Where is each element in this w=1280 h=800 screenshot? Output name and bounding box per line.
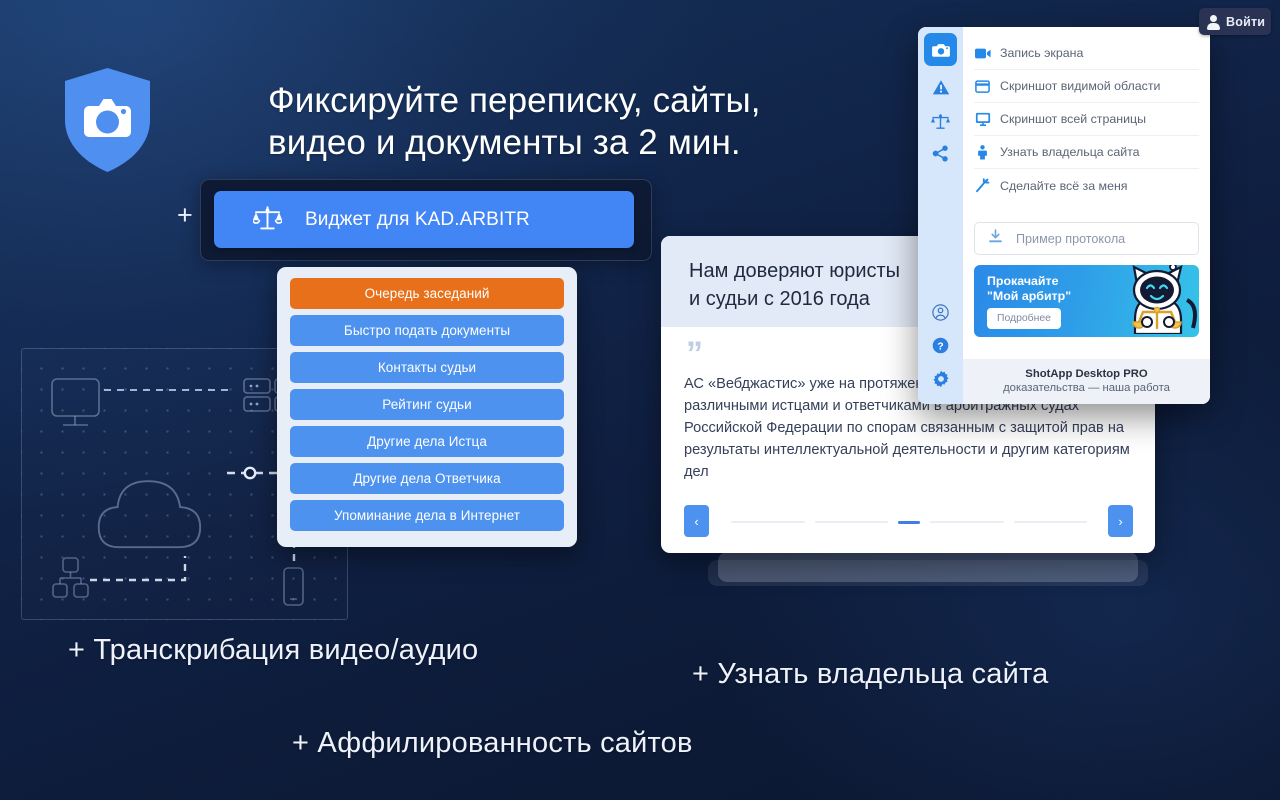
ext-menu-label-4: Сделайте всё за меня <box>1000 179 1128 193</box>
rail-item-help[interactable]: ? <box>918 329 963 362</box>
magic-wand-icon <box>974 178 991 193</box>
promo-title-line-2: "Мой арбитр" <box>987 289 1071 304</box>
login-button[interactable]: Войти <box>1199 8 1271 35</box>
footer-product-name: ShotApp Desktop PRO <box>963 368 1210 380</box>
menu-item-1[interactable]: Быстро подать документы <box>290 315 564 346</box>
headline-line-2: видео и документы за 2 мин. <box>268 122 898 164</box>
feature-line-2: + Узнать владельца сайта <box>692 658 1048 691</box>
footer-tagline: доказательства — наша работа <box>963 382 1210 394</box>
widget-button-label: Виджет для KAD.ARBITR <box>305 209 530 231</box>
svg-text:?: ? <box>937 340 943 352</box>
warning-triangle-icon <box>932 79 950 96</box>
ext-menu-item-do-everything[interactable]: Сделайте всё за меня <box>974 169 1199 202</box>
ext-menu-item-visible-area[interactable]: Скриншот видимой области <box>974 70 1199 103</box>
carousel-prev-button[interactable]: ‹ <box>684 505 709 537</box>
protocol-example-button[interactable]: Пример протокола <box>974 222 1199 255</box>
carousel-dot-1[interactable] <box>815 521 889 523</box>
rail-top-group <box>918 71 963 170</box>
promo-banner-my-arbitr[interactable]: Прокачайте "Мой арбитр" Подробнее <box>974 265 1199 337</box>
extension-footer: ShotApp Desktop PRO доказательства — наш… <box>963 359 1210 404</box>
download-icon <box>988 229 1003 248</box>
carousel-next-button[interactable]: › <box>1108 505 1133 537</box>
rail-item-account[interactable] <box>918 296 963 329</box>
rail-item-settings[interactable] <box>918 362 963 395</box>
rail-item-camera[interactable] <box>924 33 957 66</box>
monitor-icon <box>974 112 991 126</box>
scales-icon <box>931 112 950 130</box>
kad-widget-menu-card: Очередь заседаний Быстро подать документ… <box>277 267 577 547</box>
ext-menu-label-3: Узнать владельца сайта <box>1000 145 1140 159</box>
headline-line-1: Фиксируйте переписку, сайты, <box>268 80 898 122</box>
carousel-dot-3[interactable] <box>930 521 1004 523</box>
rail-bottom-group: ? <box>918 296 963 395</box>
feature-line-1: + Транскрибация видео/аудио <box>68 634 478 667</box>
menu-item-4[interactable]: Другие дела Истца <box>290 426 564 457</box>
promo-title-line-1: Прокачайте <box>987 274 1071 289</box>
extension-main: Запись экрана Скриншот видимой области <box>963 27 1210 404</box>
camera-icon <box>932 42 950 58</box>
extension-sidebar-rail: ? <box>918 27 963 404</box>
carousel-dot-4[interactable] <box>1014 521 1088 523</box>
menu-item-3[interactable]: Рейтинг судьи <box>290 389 564 420</box>
browser-window-icon <box>974 80 991 93</box>
menu-item-5[interactable]: Другие дела Ответчика <box>290 463 564 494</box>
help-circle-icon: ? <box>932 337 949 354</box>
widget-panel: Виджет для KAD.ARBITR <box>200 179 652 261</box>
shield-camera-icon <box>61 66 154 174</box>
protocol-button-label: Пример протокола <box>1016 232 1125 246</box>
promo-banner: Фиксируйте переписку, сайты, видео и док… <box>0 0 1280 800</box>
ext-menu-label-1: Скриншот видимой области <box>1000 79 1160 93</box>
ext-menu-item-full-page[interactable]: Скриншот всей страницы <box>974 103 1199 136</box>
ext-menu-label-0: Запись экрана <box>1000 46 1083 60</box>
ext-menu-item-screen-record[interactable]: Запись экрана <box>974 37 1199 70</box>
rail-item-share[interactable] <box>918 137 963 170</box>
person-standing-icon <box>974 145 991 160</box>
widget-plus-sign: + <box>177 202 193 229</box>
menu-item-2[interactable]: Контакты судьи <box>290 352 564 383</box>
promo-details-button[interactable]: Подробнее <box>987 308 1061 329</box>
menu-item-0[interactable]: Очередь заседаний <box>290 278 564 309</box>
promo-title: Прокачайте "Мой арбитр" <box>987 274 1071 304</box>
feature-line-3: + Аффилированность сайтов <box>292 727 693 760</box>
menu-item-6[interactable]: Упоминание дела в Интернет <box>290 500 564 531</box>
rail-item-scales[interactable] <box>918 104 963 137</box>
quote-mark-icon: ” <box>686 337 704 371</box>
testimonial-stack-mid <box>718 552 1138 582</box>
shield-camera-logo <box>61 66 154 174</box>
video-camera-icon <box>974 48 991 59</box>
page-title: Фиксируйте переписку, сайты, видео и док… <box>268 80 898 164</box>
login-button-label: Войти <box>1226 15 1265 29</box>
account-circle-icon <box>932 304 949 321</box>
carousel-dots <box>731 520 1087 524</box>
ext-menu-label-2: Скриншот всей страницы <box>1000 112 1146 126</box>
carousel-dot-2[interactable] <box>898 521 920 524</box>
rail-item-warning[interactable] <box>918 71 963 104</box>
ext-menu-item-site-owner[interactable]: Узнать владельца сайта <box>974 136 1199 169</box>
extension-popup: ? Запись экрана <box>918 27 1210 404</box>
carousel-dot-0[interactable] <box>731 521 805 523</box>
cat-mascot-icon <box>1117 265 1197 337</box>
widget-kad-arbitr-button[interactable]: Виджет для KAD.ARBITR <box>214 191 634 248</box>
scales-icon <box>253 204 282 236</box>
testimonial-carousel-nav: ‹ › <box>661 505 1155 539</box>
person-icon <box>1206 14 1221 30</box>
share-icon <box>932 145 949 162</box>
gear-icon <box>932 370 950 388</box>
